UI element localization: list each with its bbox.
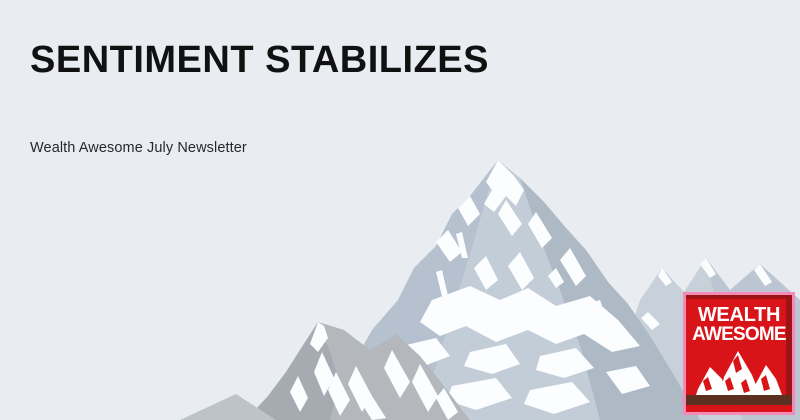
logo-text-line-1: WEALTH [686,305,792,325]
logo-text-line-2: AWESOME [686,325,792,344]
logo-base-bar-shade [686,405,792,412]
logo-base-bar [686,395,792,405]
page-title: SENTIMENT STABILIZES [30,40,489,82]
newsletter-banner: SENTIMENT STABILIZES Wealth Awesome July… [0,0,800,420]
logo-top-shade [686,295,792,299]
logo-inner: WEALTH AWESOME [686,295,792,412]
wealth-awesome-logo[interactable]: WEALTH AWESOME [683,292,795,415]
page-subtitle: Wealth Awesome July Newsletter [30,140,247,156]
